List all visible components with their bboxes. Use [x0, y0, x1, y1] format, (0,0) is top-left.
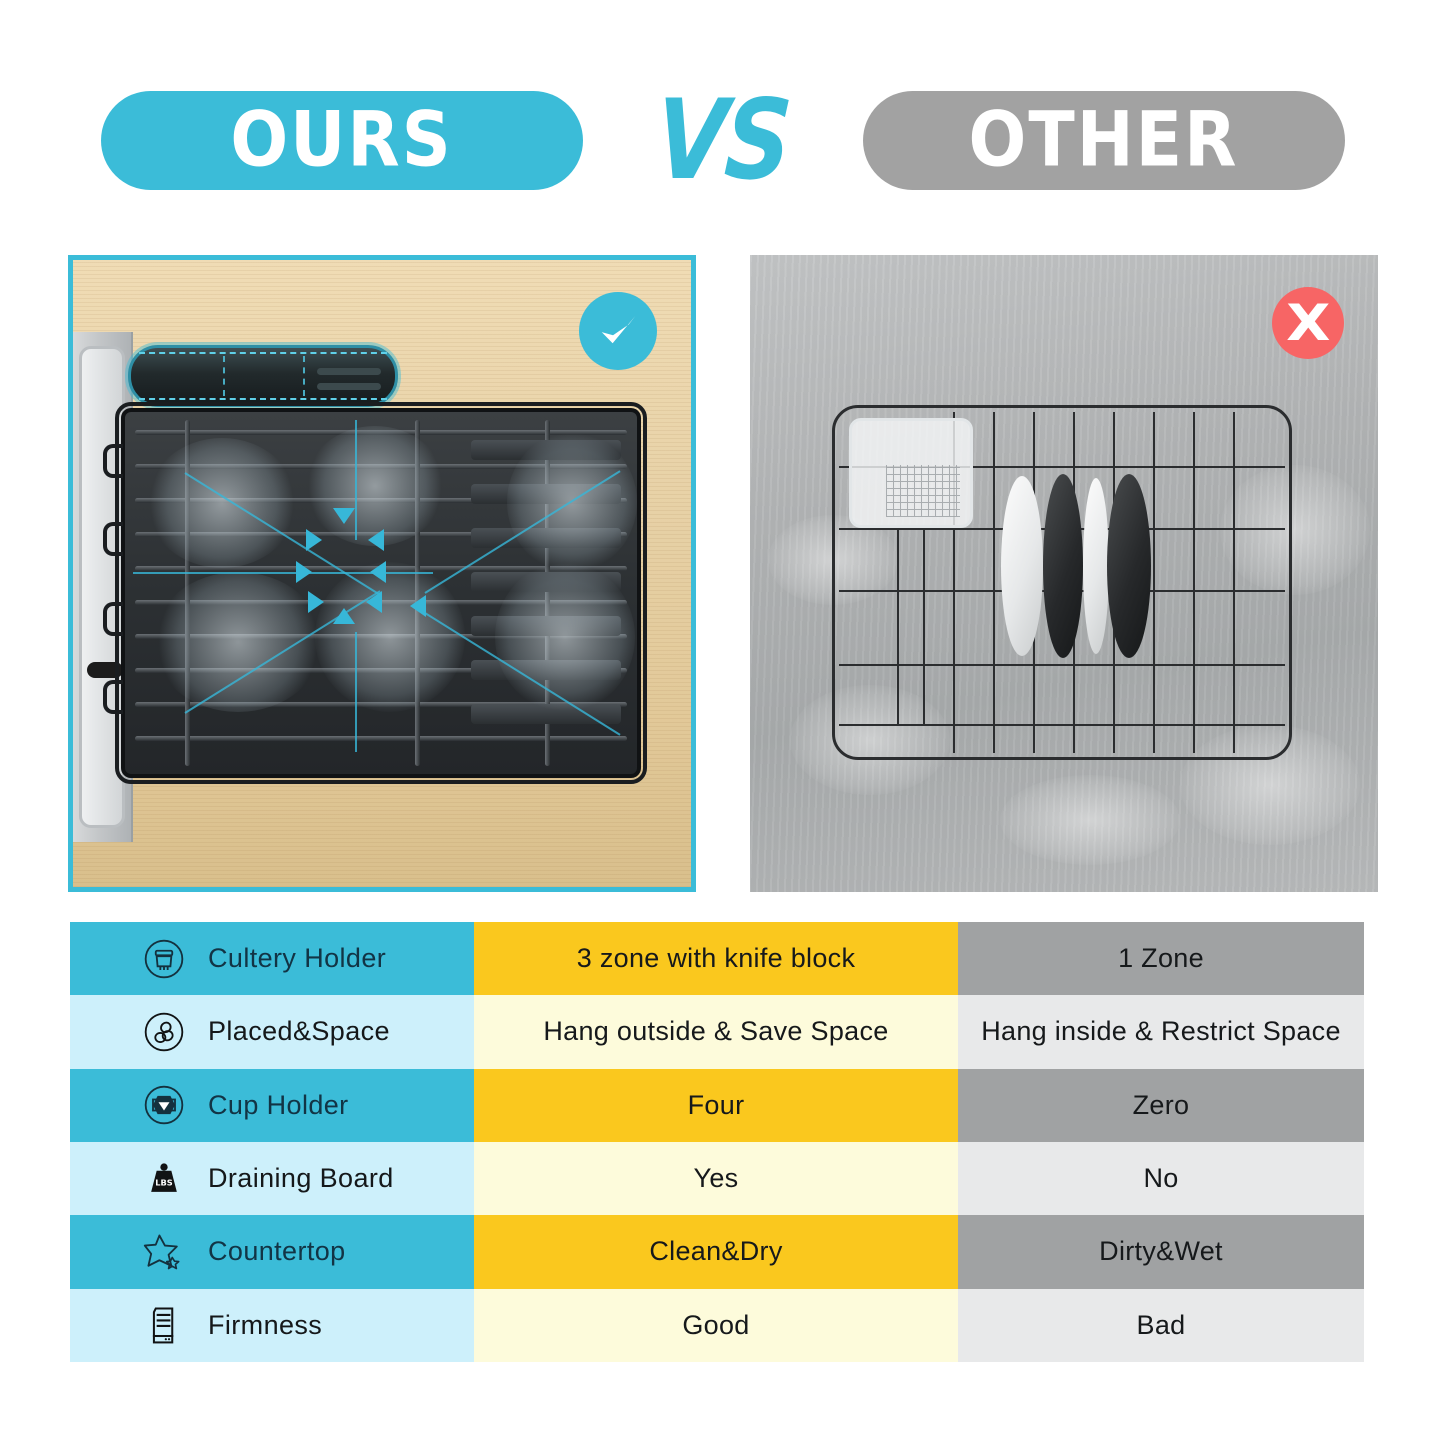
other-value-cell: Zero	[958, 1069, 1364, 1142]
feature-label: Firmness	[208, 1310, 322, 1341]
utensil-tray	[849, 418, 973, 528]
feature-cell: Firmness	[70, 1289, 474, 1362]
draining-board-icon: LBS	[142, 1157, 186, 1201]
other-value: Hang inside & Restrict Space	[981, 1016, 1341, 1047]
table-row: Countertop Clean&Dry Dirty&Wet	[70, 1215, 1364, 1288]
flow-arrow-left-2	[296, 561, 312, 583]
x-icon: X	[1286, 298, 1330, 348]
comparison-table: Cultery Holder 3 zone with knife block 1…	[70, 922, 1364, 1362]
other-value: Bad	[1137, 1310, 1186, 1341]
other-value: 1 Zone	[1118, 943, 1204, 974]
water-droplets-5	[315, 562, 465, 712]
check-icon	[595, 308, 641, 354]
ours-value-cell: Yes	[474, 1142, 958, 1215]
other-value-cell: No	[958, 1142, 1364, 1215]
flow-line-7	[355, 632, 357, 752]
knife-block-divider-2	[303, 356, 305, 396]
drying-rack	[121, 408, 641, 778]
cup-holder-icon	[142, 1083, 186, 1127]
plate-white-1	[1001, 476, 1043, 656]
other-value-cell: 1 Zone	[958, 922, 1364, 995]
knife-slot-1	[317, 368, 381, 375]
feature-label: Countertop	[208, 1236, 346, 1267]
rack-wire-10	[135, 736, 627, 741]
ours-value: Hang outside & Save Space	[543, 1016, 888, 1047]
basket-divider-2	[923, 528, 925, 724]
feature-cell: LBS Draining Board	[70, 1142, 474, 1215]
other-pill: OTHER	[863, 91, 1345, 190]
tray-mesh	[886, 465, 960, 517]
plate-dark-2	[1107, 474, 1151, 658]
flow-arrow-right-2	[370, 561, 386, 583]
photo-comparison: X	[68, 255, 1378, 892]
rejected-badge: X	[1272, 287, 1344, 359]
rack-hook-3	[103, 602, 123, 636]
table-row: Cup Holder Four Zero	[70, 1069, 1364, 1142]
cutlery-holder-icon	[142, 937, 186, 981]
flow-line-2	[133, 572, 433, 574]
other-value-cell: Hang inside & Restrict Space	[958, 995, 1364, 1068]
other-label: OTHER	[969, 102, 1239, 178]
plate-dark-1	[1043, 474, 1083, 658]
comparison-infographic: OURS VS OTHER	[0, 0, 1445, 1445]
water-droplets-1	[147, 438, 297, 568]
water-splash-5	[1000, 775, 1180, 865]
ours-value: Four	[688, 1090, 745, 1121]
water-droplets-2	[305, 426, 445, 546]
knife-slot-2	[317, 383, 381, 390]
basket-wire-h-5	[839, 724, 1285, 726]
flow-arrow-right-1	[368, 529, 384, 551]
water-droplets-6	[495, 562, 635, 712]
ours-value-cell: Clean&Dry	[474, 1215, 958, 1288]
placed-space-icon	[142, 1010, 186, 1054]
header-banner: OURS VS OTHER	[0, 88, 1445, 193]
feature-cell: Countertop	[70, 1215, 474, 1288]
countertop-icon	[142, 1230, 186, 1274]
vs-label: VS	[653, 85, 793, 195]
rack-hook-4	[103, 680, 123, 714]
other-photo: X	[750, 255, 1378, 892]
ours-label: OURS	[230, 102, 452, 178]
ours-value: 3 zone with knife block	[577, 943, 856, 974]
knife-block	[128, 345, 398, 407]
flow-arrow-up	[333, 608, 355, 624]
ours-value-cell: 3 zone with knife block	[474, 922, 958, 995]
rack-hook-1	[103, 444, 123, 478]
other-value: No	[1143, 1163, 1178, 1194]
basket-wire-v-2	[993, 412, 995, 753]
svg-text:LBS: LBS	[155, 1177, 173, 1187]
basket-wire-h-4	[839, 664, 1285, 666]
other-value: Dirty&Wet	[1099, 1236, 1223, 1267]
basket-wire-v-8	[1233, 412, 1235, 753]
flow-line-1	[355, 420, 357, 540]
knife-block-outline-top	[139, 352, 387, 354]
knife-block-divider-1	[223, 356, 225, 396]
flow-arrow-left-1	[306, 529, 322, 551]
firmness-icon	[142, 1303, 186, 1347]
table-row: Placed&Space Hang outside & Save Space H…	[70, 995, 1364, 1068]
feature-cell: Cup Holder	[70, 1069, 474, 1142]
ours-pill: OURS	[101, 91, 583, 190]
ours-photo	[68, 255, 696, 892]
ours-value-cell: Good	[474, 1289, 958, 1362]
feature-label: Cup Holder	[208, 1090, 349, 1121]
flow-arrow-right-4	[410, 595, 426, 617]
basket-wire-v-7	[1193, 412, 1195, 753]
ours-value: Good	[682, 1310, 749, 1341]
flow-arrow-down	[333, 508, 355, 524]
rack-hook-2	[103, 522, 123, 556]
knife-block-outline-bottom	[139, 398, 387, 400]
ours-value-cell: Four	[474, 1069, 958, 1142]
table-row: Cultery Holder 3 zone with knife block 1…	[70, 922, 1364, 995]
wire-dish-basket	[832, 405, 1292, 760]
other-value-cell: Dirty&Wet	[958, 1215, 1364, 1288]
ours-value-cell: Hang outside & Save Space	[474, 995, 958, 1068]
basket-wire-v-6	[1153, 412, 1155, 753]
feature-label: Cultery Holder	[208, 943, 386, 974]
ours-value: Clean&Dry	[649, 1236, 782, 1267]
approved-badge	[579, 292, 657, 370]
other-value-cell: Bad	[958, 1289, 1364, 1362]
vs-mark: VS	[583, 88, 863, 193]
ours-value: Yes	[694, 1163, 739, 1194]
basket-divider-1	[897, 528, 899, 724]
feature-cell: Cultery Holder	[70, 922, 474, 995]
other-value: Zero	[1133, 1090, 1190, 1121]
table-row: Firmness Good Bad	[70, 1289, 1364, 1362]
flow-arrow-right-3	[366, 591, 382, 613]
flow-arrow-left-3	[308, 591, 324, 613]
feature-cell: Placed&Space	[70, 995, 474, 1068]
feature-label: Placed&Space	[208, 1016, 390, 1047]
table-row: LBS Draining Board Yes No	[70, 1142, 1364, 1215]
plate-white-2	[1083, 478, 1109, 654]
feature-label: Draining Board	[208, 1163, 394, 1194]
